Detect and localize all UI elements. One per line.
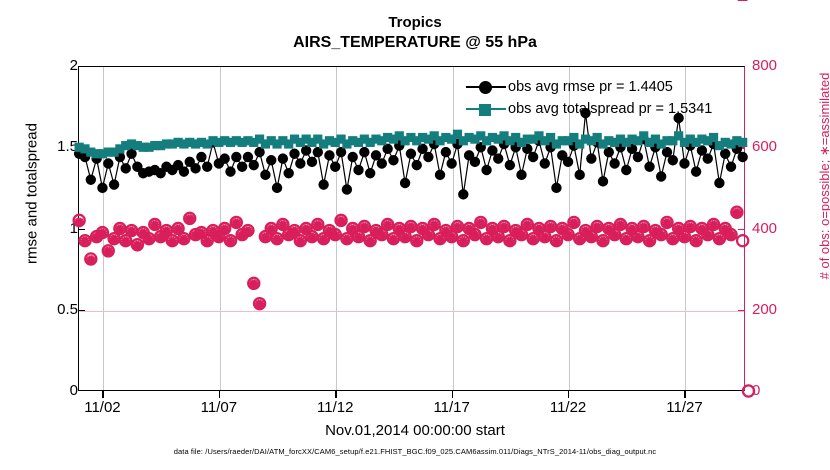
horizontal-gridline — [79, 148, 744, 149]
horizontal-gridline — [79, 230, 744, 231]
y-tick-right-mark — [738, 147, 745, 148]
y-tick-right-label: 200 — [752, 301, 812, 318]
x-axis-label: Nov.01,2014 00:00:00 start — [0, 422, 830, 439]
vertical-gridline — [336, 67, 337, 390]
horizontal-gridline — [79, 311, 744, 312]
y-axis-left-label: rmse and totalspread — [24, 44, 41, 344]
legend-marker-square-icon — [464, 99, 508, 119]
y-tick-right-label: 0 — [752, 382, 812, 399]
x-tick-label: 11/12 — [295, 399, 375, 416]
legend-label-rmse: obs avg rmse pr = 1.4405 — [508, 79, 673, 95]
y-tick-left-mark — [78, 229, 85, 230]
x-tick-mark — [335, 391, 336, 398]
y-axis-right-label: # of obs: o=possible; ∗=assimilated — [817, 11, 830, 341]
x-tick-label: 11/22 — [528, 399, 608, 416]
chart-legend[interactable]: obs avg rmse pr = 1.4405 obs avg totalsp… — [464, 76, 744, 120]
y-tick-left-mark — [78, 310, 85, 311]
legend-marker-circle-icon — [464, 77, 508, 97]
x-tick-mark — [452, 391, 453, 398]
x-tick-label: 11/17 — [412, 399, 492, 416]
y-tick-right-label: 800 — [752, 57, 812, 74]
vertical-gridline — [220, 67, 221, 390]
chart-title-variable: AIRS_TEMPERATURE @ 55 hPa — [0, 34, 830, 52]
figure-canvas: Tropics AIRS_TEMPERATURE @ 55 hPa 00.511… — [0, 0, 830, 470]
x-tick-mark — [568, 391, 569, 398]
y-tick-right-mark — [738, 310, 745, 311]
x-tick-label: 11/27 — [644, 399, 724, 416]
x-tick-label: 11/02 — [62, 399, 142, 416]
x-tick-mark — [684, 391, 685, 398]
legend-item-rmse[interactable]: obs avg rmse pr = 1.4405 — [464, 76, 744, 98]
vertical-gridline — [453, 67, 454, 390]
x-tick-mark — [102, 391, 103, 398]
legend-label-totalspread: obs avg totalspread pr = 1.5341 — [508, 101, 712, 117]
y-tick-left-label: 0 — [18, 382, 78, 399]
x-tick-label: 11/07 — [179, 399, 259, 416]
x-tick-mark — [219, 391, 220, 398]
y-tick-left-mark — [78, 147, 85, 148]
y-tick-right-mark — [738, 229, 745, 230]
data-file-caption: data file: /Users/raeder/DAI/ATM_forcXX/… — [0, 447, 830, 456]
legend-item-totalspread[interactable]: obs avg totalspread pr = 1.5341 — [464, 98, 744, 120]
y-tick-right-label: 600 — [752, 138, 812, 155]
chart-title-region: Tropics — [0, 14, 830, 31]
y-tick-right-label: 400 — [752, 220, 812, 237]
vertical-gridline — [103, 67, 104, 390]
